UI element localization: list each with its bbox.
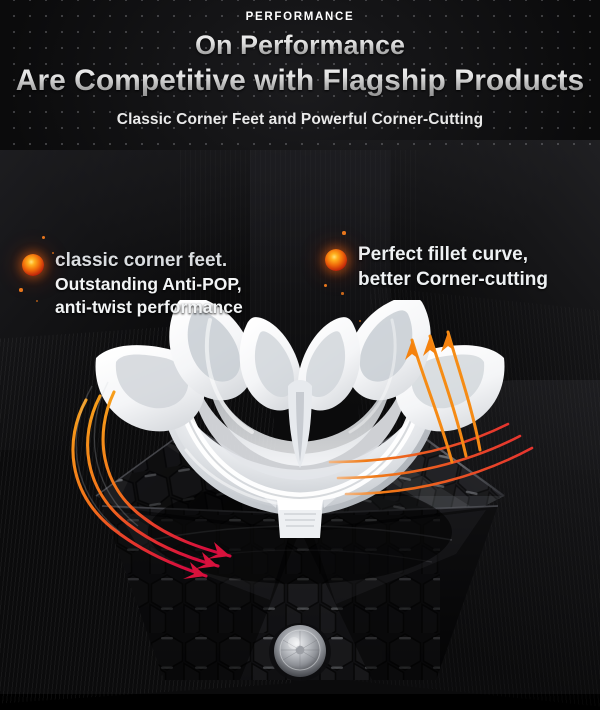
page-title: On Performance Are Competitive with Flag… bbox=[0, 30, 600, 98]
spark-particle bbox=[324, 284, 327, 287]
glowing-dot-icon bbox=[325, 249, 347, 271]
feature-line-1: Perfect fillet curve, bbox=[358, 242, 590, 267]
spark-particle bbox=[42, 236, 45, 239]
feature-text-right: Perfect fillet curve, better Corner-cutt… bbox=[358, 242, 590, 292]
subtitle: Classic Corner Feet and Powerful Corner-… bbox=[0, 111, 600, 129]
spark-particle bbox=[36, 300, 38, 302]
white-corner-piece bbox=[95, 300, 504, 584]
feature-classic-corner-feet: classic corner feet. Outstanding Anti-PO… bbox=[22, 248, 312, 319]
title-line-2: Are Competitive with Flagship Products bbox=[0, 63, 600, 98]
glowing-dot-icon bbox=[22, 254, 44, 276]
product-illustration bbox=[0, 300, 600, 694]
spark-particle bbox=[341, 292, 344, 295]
feature-line-3: anti-twist performance bbox=[55, 296, 312, 319]
feature-text-left: classic corner feet. Outstanding Anti-PO… bbox=[55, 248, 312, 319]
feature-line-2: Outstanding Anti-POP, bbox=[55, 273, 312, 296]
title-line-1: On Performance bbox=[0, 30, 600, 62]
feature-line-1: classic corner feet. bbox=[55, 248, 312, 273]
feature-perfect-fillet-curve: Perfect fillet curve, better Corner-cutt… bbox=[325, 242, 590, 292]
eyebrow-label: PERFORMANCE bbox=[0, 11, 600, 23]
spark-particle bbox=[359, 320, 361, 322]
silver-center-screw bbox=[269, 623, 331, 681]
banner-header: PERFORMANCE On Performance Are Competiti… bbox=[0, 0, 600, 129]
spark-particle bbox=[342, 231, 346, 235]
spark-particle bbox=[19, 288, 23, 292]
spark-particle bbox=[52, 252, 54, 254]
feature-line-2: better Corner-cutting bbox=[358, 267, 590, 292]
